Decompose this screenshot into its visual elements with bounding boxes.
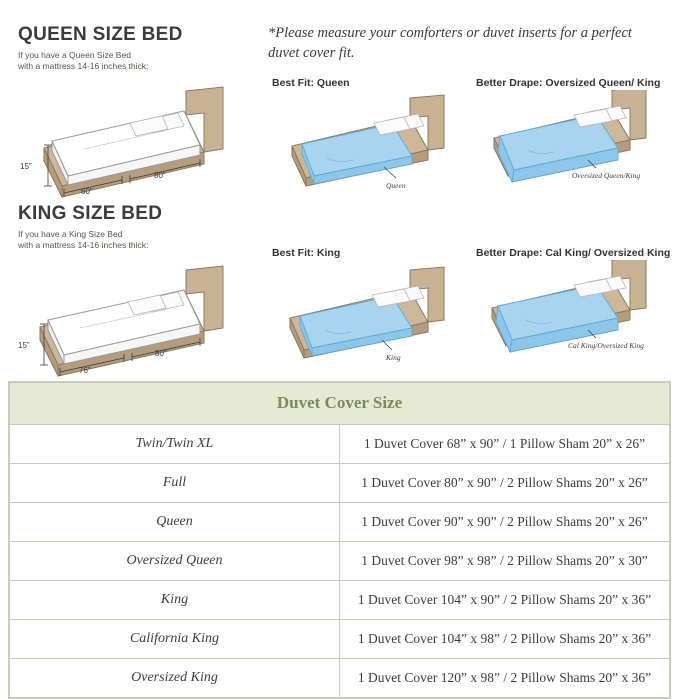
row-contents: 1 Duvet Cover 90” x 90” / 2 Pillow Shams… — [340, 503, 670, 542]
fit-heading-2: Better Drape: Oversized Queen/ King — [476, 76, 671, 90]
table-header-row: Duvet Cover Size — [10, 383, 670, 425]
fit-heading-1: Best Fit: Queen — [272, 76, 462, 90]
fit-column-better-drape-cal-king-oversized-king: Better Drape: Cal King/ Oversized King C… — [476, 246, 671, 358]
king-bed-illustration: 15” 76” 80” — [18, 252, 254, 377]
row-contents: 1 Duvet Cover 104” x 90” / 2 Pillow Sham… — [340, 581, 670, 620]
king-subtitle-line2: with a mattress 14-16 inches thick: — [18, 240, 148, 250]
king-height-label: 15” — [18, 341, 30, 350]
table-body: Twin/Twin XL 1 Duvet Cover 68” x 90” / 1… — [10, 425, 670, 698]
queen-length-label: 80” — [154, 171, 166, 180]
table-row: Twin/Twin XL 1 Duvet Cover 68” x 90” / 1… — [10, 425, 670, 464]
better-drape-oversized-queen-king-illustration: Oversized Queen/King — [476, 90, 671, 188]
row-size: Queen — [10, 503, 340, 542]
table-title: Duvet Cover Size — [10, 383, 670, 425]
row-size: Twin/Twin XL — [10, 425, 340, 464]
row-contents: 1 Duvet Cover 80” x 90” / 2 Pillow Shams… — [340, 464, 670, 503]
measure-note: *Please measure your comforters or duvet… — [268, 24, 666, 63]
fit-heading-3: Best Fit: King — [272, 246, 462, 260]
queen-subtitle-line1: If you have a Queen Size Bed — [18, 50, 131, 60]
best-fit-king-illustration: King — [272, 260, 462, 370]
queen-bed-illustration: 15” 60” 80” — [18, 73, 254, 198]
better-drape-cal-king-oversized-king-illustration: Cal King/Oversized King — [476, 260, 671, 358]
queen-height-label: 15” — [20, 162, 32, 171]
table-row: Queen 1 Duvet Cover 90” x 90” / 2 Pillow… — [10, 503, 670, 542]
row-contents: 1 Duvet Cover 104” x 98” / 2 Pillow Sham… — [340, 620, 670, 659]
table-row: Oversized King 1 Duvet Cover 120” x 98” … — [10, 659, 670, 698]
fit-caption-2: Oversized Queen/King — [572, 171, 640, 180]
queen-subtitle-line2: with a mattress 14-16 inches thick: — [18, 61, 148, 71]
fit-caption-4: Cal King/Oversized King — [568, 341, 644, 350]
fit-caption-3: King — [385, 353, 401, 362]
king-section: KING SIZE BED If you have a King Size Be… — [18, 203, 254, 377]
row-size: Oversized Queen — [10, 542, 340, 581]
row-size: California King — [10, 620, 340, 659]
queen-section: QUEEN SIZE BED If you have a Queen Size … — [18, 24, 254, 198]
row-size: Oversized King — [10, 659, 340, 698]
king-width-label: 76” — [79, 366, 91, 375]
king-subtitle-line1: If you have a King Size Bed — [18, 229, 122, 239]
row-size: Full — [10, 464, 340, 503]
queen-width-label: 60” — [81, 187, 93, 196]
row-contents: 1 Duvet Cover 98” x 98” / 2 Pillow Shams… — [340, 542, 670, 581]
measure-note-block: *Please measure your comforters or duvet… — [268, 24, 666, 63]
row-contents: 1 Duvet Cover 120” x 98” / 2 Pillow Sham… — [340, 659, 670, 698]
queen-subtitle: If you have a Queen Size Bed with a matt… — [18, 50, 254, 73]
queen-title: QUEEN SIZE BED — [18, 24, 254, 46]
fit-column-best-fit-queen: Best Fit: Queen Queen — [272, 76, 462, 200]
king-length-label: 80” — [155, 349, 167, 358]
row-contents: 1 Duvet Cover 68” x 90” / 1 Pillow Sham … — [340, 425, 670, 464]
fit-column-better-drape-oversized-queen-king: Better Drape: Oversized Queen/ King Over… — [476, 76, 671, 188]
fit-caption-1: Queen — [386, 181, 406, 190]
fit-column-best-fit-king: Best Fit: King King — [272, 246, 462, 370]
table-row: King 1 Duvet Cover 104” x 90” / 2 Pillow… — [10, 581, 670, 620]
table-row: Oversized Queen 1 Duvet Cover 98” x 98” … — [10, 542, 670, 581]
table-row: Full 1 Duvet Cover 80” x 90” / 2 Pillow … — [10, 464, 670, 503]
row-size: King — [10, 581, 340, 620]
fit-heading-4: Better Drape: Cal King/ Oversized King — [476, 246, 671, 260]
king-subtitle: If you have a King Size Bed with a mattr… — [18, 229, 254, 252]
table-row: California King 1 Duvet Cover 104” x 98”… — [10, 620, 670, 659]
duvet-size-guide: QUEEN SIZE BED If you have a Queen Size … — [0, 0, 679, 679]
best-fit-queen-illustration: Queen — [272, 90, 462, 200]
duvet-cover-size-table: Duvet Cover Size Twin/Twin XL 1 Duvet Co… — [8, 381, 671, 699]
king-title: KING SIZE BED — [18, 203, 254, 225]
